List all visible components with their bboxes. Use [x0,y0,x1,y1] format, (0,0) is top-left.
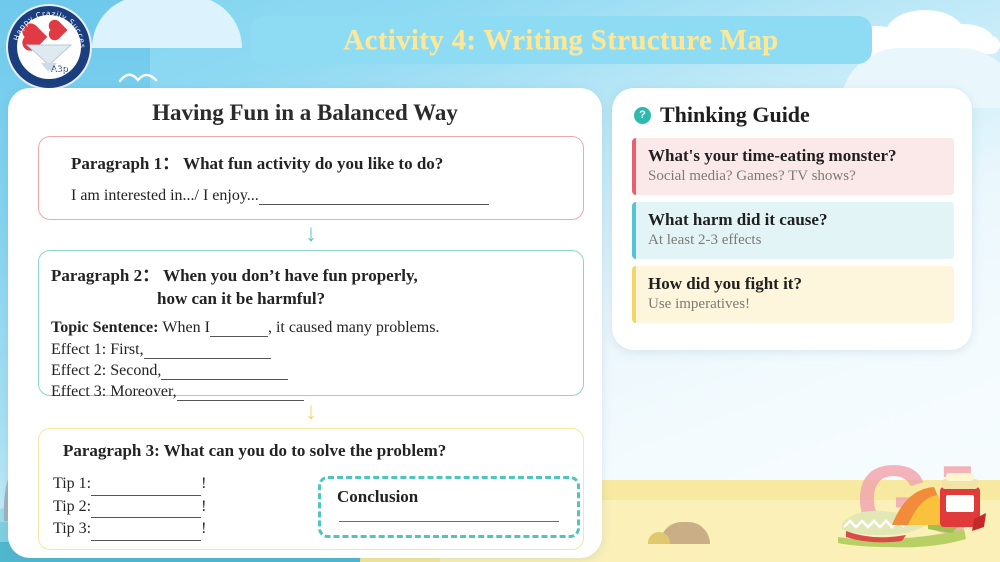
effect-3-blank[interactable] [177,384,304,401]
thinking-card-2-question: What harm did it cause? [648,209,944,230]
paragraph-2-box[interactable]: Paragraph 2： When you don’t have fun pro… [38,250,584,396]
thinking-guide-header: ? Thinking Guide [634,102,810,128]
paragraph-3-heading: Paragraph 3: What can you do to solve th… [63,441,446,461]
slide-canvas: G J [0,0,1000,562]
conclusion-blank[interactable] [339,521,559,522]
svg-text:Happy Crazily Successfully: Happy Crazily Successfully [8,6,87,49]
page-title: Activity 4: Writing Structure Map [343,24,778,57]
effect-2-label: Effect 2: Second, [51,362,161,379]
thinking-card-3-question: How did you fight it? [648,273,944,294]
thinking-guide-panel: ? Thinking Guide What's your time-eating… [612,88,972,350]
tips-list: Tip 1:! Tip 2:! Tip 3:! [53,473,206,541]
tip-row-1[interactable]: Tip 1:! [53,473,206,496]
tip-2-blank[interactable] [91,501,201,518]
thinking-card-2-answer: At least 2-3 effects [648,231,944,251]
tip-1-label: Tip 1: [53,475,91,492]
badge-ring-text: Happy Crazily Successfully 大连市甘井子区小玲名师工作… [8,6,90,88]
paragraph-2-heading-line2: how can it be harmful? [157,289,325,309]
thinking-card-1-answer: Social media? Games? TV shows? [648,167,944,187]
conclusion-label: Conclusion [337,487,418,507]
tip-1-suffix: ! [201,475,206,492]
structure-map-title: Having Fun in a Balanced Way [8,100,602,126]
thinking-card-1-question: What's your time-eating monster? [648,145,944,166]
tip-row-2[interactable]: Tip 2:! [53,496,206,519]
thinking-card-3[interactable]: How did you fight it? Use imperatives! [632,266,954,323]
effect-1-blank[interactable] [144,342,271,359]
paragraph-1-box[interactable]: Paragraph 1： What fun activity do you li… [38,136,584,220]
thinking-guide-title: Thinking Guide [660,102,810,128]
arrow-p1-to-p2: ↓ [38,222,584,246]
thinking-card-3-answer: Use imperatives! [648,295,944,315]
thinking-card-2[interactable]: What harm did it cause? At least 2-3 eff… [632,202,954,259]
school-badge-logo: A3p Happy Crazily Successfully 大连市甘井子区小玲… [8,6,90,88]
paragraph-1-heading: Paragraph 1： What fun activity do you li… [71,149,443,174]
jam-jar-illustration [890,463,986,542]
tip-row-3[interactable]: Tip 3:! [53,518,206,541]
topic-sentence-label: Topic Sentence: [51,319,158,336]
topic-sentence-after: , it caused many problems. [268,319,440,336]
tip-1-blank[interactable] [91,479,201,496]
paragraph-1-prompt: I am interested in.../ I enjoy... [71,187,259,204]
effect-2-blank[interactable] [161,363,288,380]
topic-sentence-before: When I [162,319,210,336]
tip-2-label: Tip 2: [53,498,91,515]
effect-1-label: Effect 1: First, [51,341,144,358]
tip-3-suffix: ! [201,520,206,537]
topic-sentence-blank[interactable] [210,320,268,337]
activity-title-bar: Activity 4: Writing Structure Map [250,16,872,64]
effect-3-label: Effect 3: Moreover, [51,383,177,400]
conclusion-box[interactable]: Conclusion [318,476,580,538]
question-mark-icon: ? [634,107,651,124]
thinking-card-1[interactable]: What's your time-eating monster? Social … [632,138,954,195]
tip-3-label: Tip 3: [53,520,91,537]
paragraph-1-blank[interactable] [259,187,489,205]
arrow-p2-to-p3: ↓ [38,400,584,424]
paragraph-2-heading-line1: Paragraph 2： When you don’t have fun pro… [51,261,418,286]
tip-2-suffix: ! [201,498,206,515]
tip-3-blank[interactable] [91,524,201,541]
